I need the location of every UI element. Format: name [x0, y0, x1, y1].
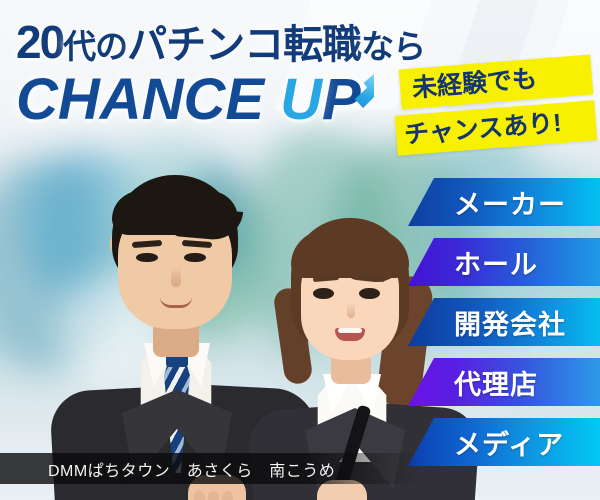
headline-age-number: 20 [16, 16, 63, 68]
logo-letter-u: U [280, 72, 322, 129]
category-label: ホール [454, 243, 538, 282]
logo-letter-p: P [322, 67, 361, 132]
category-label: メーカー [454, 183, 566, 222]
headline-block: 20代のパチンコ転職なら CHANCEUP [16, 12, 436, 129]
headline-tail: なら [361, 28, 425, 65]
category-list: メーカー ホール 開発会社 代理店 メディア [408, 178, 600, 478]
category-item-hall[interactable]: ホール [408, 238, 600, 286]
credit-strip: DMMぱちタウン あさくら 南こうめ [0, 453, 420, 484]
headline-keyword: パチンコ転職 [127, 23, 361, 67]
category-item-agency[interactable]: 代理店 [408, 358, 600, 406]
category-item-development-company[interactable]: 開発会社 [408, 298, 600, 346]
category-item-media[interactable]: メディア [408, 418, 600, 466]
category-label: メディア [454, 423, 564, 462]
headline-line-1: 20代のパチンコ転職なら [16, 12, 436, 70]
logo-word-chance: CHANCE [16, 67, 264, 132]
ad-banner[interactable]: 20代のパチンコ転職なら CHANCEUP 未経験でも チャンスあり! メーカー… [0, 0, 600, 500]
category-label: 代理店 [454, 363, 538, 402]
headline-age-suffix: 代の [63, 28, 127, 65]
category-label: 開発会社 [454, 303, 566, 342]
category-item-maker[interactable]: メーカー [408, 178, 600, 226]
credit-text: DMMぱちタウン あさくら 南こうめ [48, 457, 335, 481]
